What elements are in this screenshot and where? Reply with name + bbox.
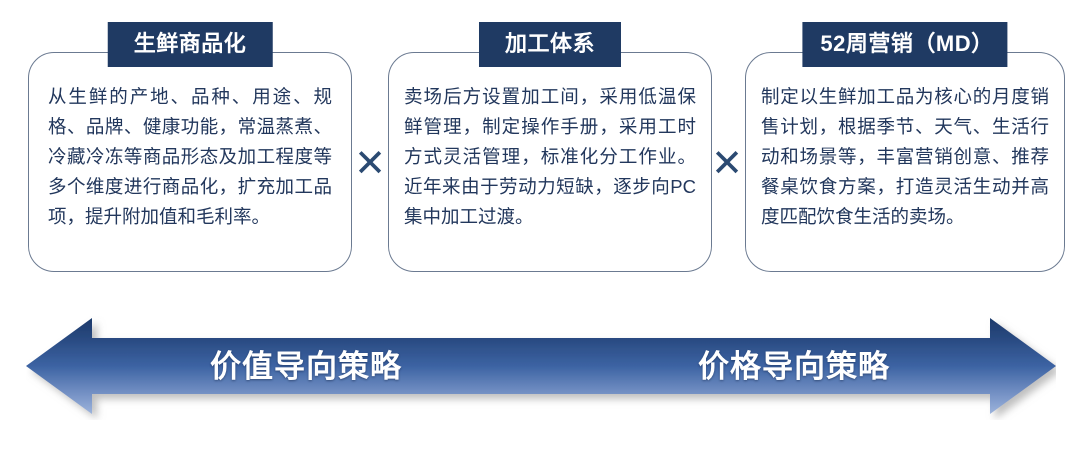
- card-body-text: 从生鲜的产地、品种、用途、规格、品牌、健康功能，常温蒸煮、冷藏冷冻等商品形态及加…: [28, 82, 352, 232]
- card-title-banner: 52周营销（MD）: [802, 22, 1007, 67]
- card-title-banner: 生鲜商品化: [108, 22, 273, 67]
- concept-cards-row: 生鲜商品化 从生鲜的产地、品种、用途、规格、品牌、健康功能，常温蒸煮、冷藏冷冻等…: [0, 0, 1080, 300]
- card-title-banner: 加工体系: [479, 22, 621, 67]
- concept-card-3[interactable]: 52周营销（MD） 制定以生鲜加工品为核心的月度销售计划，根据季节、天气、生活行…: [745, 52, 1065, 272]
- card-body-text: 卖场后方设置加工间，采用低温保鲜管理，制定操作手册，采用工时方式灵活管理，标准化…: [388, 82, 712, 232]
- concept-card-2[interactable]: 加工体系 卖场后方设置加工间，采用低温保鲜管理，制定操作手册，采用工时方式灵活管…: [388, 52, 712, 272]
- multiply-icon: ✕: [709, 143, 745, 183]
- strategy-arrow-banner: 价值导向策略 价格导向策略: [26, 316, 1056, 420]
- card-body-text: 制定以生鲜加工品为核心的月度销售计划，根据季节、天气、生活行动和场景等，丰富营销…: [745, 82, 1065, 232]
- slide-canvas: 生鲜商品化 从生鲜的产地、品种、用途、规格、品牌、健康功能，常温蒸煮、冷藏冷冻等…: [0, 0, 1080, 449]
- concept-card-1[interactable]: 生鲜商品化 从生鲜的产地、品种、用途、规格、品牌、健康功能，常温蒸煮、冷藏冷冻等…: [28, 52, 352, 272]
- double-headed-arrow-icon: [26, 316, 1056, 420]
- multiply-icon: ✕: [352, 143, 388, 183]
